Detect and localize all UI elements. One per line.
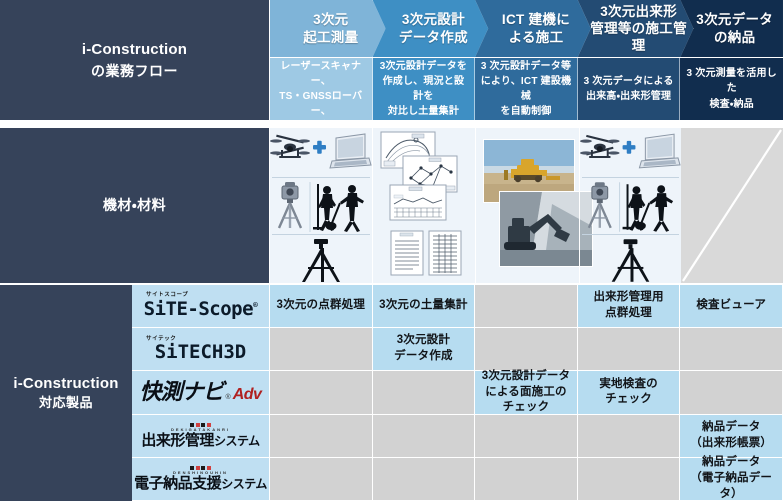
equipment-row-content: [270, 128, 783, 283]
empty-diagonal-placeholder: [681, 128, 783, 283]
tripod-icon: [580, 237, 681, 283]
cell-text: 出来形管理用点群処理: [593, 290, 663, 322]
equip-divider-4: [582, 234, 679, 235]
product-kaisoku-navi-adv-logo: 快測ナビ®Adv: [132, 371, 270, 414]
products-label-en: i-Construction: [13, 373, 118, 395]
process-step-3[interactable]: ICT 建機による施工: [475, 0, 591, 57]
header-title-jp: の業務フロー: [91, 61, 178, 81]
cell-text-line: チェック: [599, 392, 658, 408]
product-site-scope-cell-3: [475, 285, 578, 328]
scanner-surveyors-group-icon: [270, 180, 372, 237]
product-dekigata-kanri-system-cell-1: [270, 415, 373, 458]
cell-text-line: （電子納品データ）: [682, 471, 780, 501]
desc-line: レーザースキャナー、: [275, 59, 367, 89]
design-data-drawings-icon: [373, 128, 475, 283]
desc-line: TS・GNSSローバー、: [275, 89, 367, 119]
product-denshi-nouhin-shien-system-cell-5[interactable]: 納品データ（電子納品データ）: [680, 458, 783, 501]
product-denshi-nouhin-shien-system-logo: DENSHINOUHIN電子納品支援システム: [132, 458, 270, 501]
equip-col-1: [270, 128, 372, 283]
operator-silhouette-icon: [326, 185, 365, 232]
process-step-label: 3次元起工測量: [297, 11, 358, 46]
desc-line: 作成し、現況と設計を: [378, 74, 470, 104]
equip-divider-3: [582, 177, 679, 178]
product-dekigata-kanri-system-cell-2: [373, 415, 476, 458]
cell-text: 納品データ（出来形帳票）: [690, 420, 772, 452]
process-step-desc-text: 3 次元測量を活用した検査・納品: [685, 66, 778, 112]
desc-line: 3次元設計データを: [378, 59, 470, 74]
drone-laptop-group-icon: [270, 128, 372, 176]
product-dekigata-kanri-system-cell-3: [475, 415, 578, 458]
process-step-desc-2: 3次元設計データを作成し、現況と設計を対比し土量集計: [373, 58, 476, 120]
product-sitech-3d-logo: サイテックSiTECH3D: [132, 328, 270, 371]
laptop-icon: [330, 134, 371, 168]
product-dekigata-kanri-system-name-text: 出来形管理システム: [141, 433, 259, 448]
equipment-row-label-panel: 機材・材料: [0, 128, 269, 283]
equip-sep-3: [579, 128, 580, 283]
plus-icon: [313, 141, 326, 154]
desc-line: により、ICT 建設機械: [480, 74, 572, 104]
desc-line: 対比し土量集計: [378, 104, 470, 119]
product-denshi-nouhin-shien-system-cell-4: [578, 458, 681, 501]
product-denshi-nouhin-shien-system-name: DENSHINOUHIN電子納品支援システム: [134, 466, 267, 491]
laser-scanner-icon: [279, 182, 301, 228]
equipment-row-label: 機材・材料: [103, 195, 166, 215]
product-kaisoku-navi-adv-name: 快測ナビ®Adv: [140, 381, 262, 403]
desc-line: 3 次元設計データ等: [480, 59, 572, 74]
cell-text-line: による面施工の: [482, 385, 571, 401]
desc-line: 3 次元測量を活用した: [685, 66, 778, 96]
product-site-scope-cell-2[interactable]: 3次元の土量集計: [373, 285, 476, 328]
process-step-label-line1: 3次元出来形: [584, 3, 694, 20]
cell-text: 3次元の土量集計: [379, 298, 468, 314]
products-label-jp: 対応製品: [39, 394, 93, 413]
product-kaisoku-navi-adv-cell-5: [680, 371, 783, 414]
cell-text-line: 納品データ: [690, 420, 772, 436]
plus-icon: [623, 141, 636, 154]
equip-col-4: [580, 128, 681, 283]
process-step-label: 3次元設計データ作成: [393, 11, 468, 46]
cell-text-line: 実地検査の: [599, 377, 658, 393]
infographic-root: i-Construction の業務フロー 3次元起工測量3次元設計データ作成I…: [0, 0, 783, 501]
process-step-2[interactable]: 3次元設計データ作成: [373, 0, 489, 57]
product-dekigata-kanri-system-cell-5[interactable]: 納品データ（出来形帳票）: [680, 415, 783, 458]
process-step-label-line1: 3次元設計: [399, 11, 468, 28]
desc-line: 3 次元データによる: [584, 74, 674, 89]
operator-silhouette-icon: [635, 185, 673, 232]
products-label-panel: i-Construction 対応製品: [0, 285, 132, 501]
cell-text: 検査ビューア: [696, 298, 766, 314]
cell-text-line: データ作成: [394, 349, 453, 365]
cell-text-line: （出来形帳票）: [690, 436, 772, 452]
equip-sep-2: [475, 128, 476, 283]
process-step-label-line1: ICT 建機に: [502, 11, 570, 28]
equip-col-5: [681, 128, 783, 283]
process-step-desc-3: 3 次元設計データ等により、ICT 建設機械を自動制御: [475, 58, 578, 120]
header-title-en: i-Construction: [82, 39, 187, 61]
process-step-label-line2: 管理等の施工管理: [584, 20, 694, 55]
process-step-desc-4: 3 次元データによる出来高・出来形管理: [578, 58, 681, 120]
cell-text: 3次元設計データによる面施工のチェック: [482, 369, 571, 417]
product-kaisoku-navi-adv-cell-1: [270, 371, 373, 414]
product-sitech-3d-cell-3: [475, 328, 578, 371]
process-step-desc-text: 3次元設計データを作成し、現況と設計を対比し土量集計: [378, 59, 470, 120]
product-sitech-3d-name: SiTECH3D: [155, 343, 247, 362]
drone-icon: [580, 135, 620, 158]
equip-sep-1: [372, 128, 373, 283]
desc-line: 出来高・出来形管理: [584, 89, 674, 104]
process-step-label-line2: の納品: [696, 29, 773, 46]
product-sitech-3d-cell-4: [578, 328, 681, 371]
laser-scanner-icon: [589, 182, 611, 228]
laptop-icon: [639, 134, 680, 168]
product-kaisoku-navi-adv-cell-2: [373, 371, 476, 414]
cell-text: 3次元設計データ作成: [394, 333, 453, 365]
equip-divider-1: [272, 177, 370, 178]
process-step-label-line2: データ作成: [399, 29, 468, 46]
product-denshi-nouhin-shien-system-cell-3: [475, 458, 578, 501]
process-step-desc-1: UAVやレーザースキャナー、TS・GNSSローバー、ノンプリズムを活用: [270, 58, 373, 120]
process-step-label: ICT 建機による施工: [496, 11, 570, 46]
process-step-desc-5: 3 次元測量を活用した検査・納品: [680, 58, 783, 120]
desc-line: を自動制御: [480, 104, 572, 119]
cell-text: 3次元の点群処理: [277, 298, 366, 314]
drone-icon: [270, 135, 310, 158]
process-step-desc-text: 3 次元データによる出来高・出来形管理: [584, 74, 674, 104]
cell-text: 実地検査のチェック: [599, 377, 658, 409]
cell-text-line: 検査ビューア: [696, 298, 766, 314]
process-step-label-line2: 起工測量: [303, 29, 358, 46]
product-dekigata-kanri-system-logo: DEKIGATAKANRI出来形管理システム: [132, 415, 270, 458]
desc-line: 検査・納品: [685, 97, 778, 112]
process-step-4[interactable]: 3次元出来形管理等の施工管理: [578, 0, 694, 57]
product-dekigata-kanri-system-cell-4: [578, 415, 681, 458]
process-step-label-line1: 3次元: [303, 11, 358, 28]
cell-text: 納品データ（電子納品データ）: [682, 455, 780, 501]
process-step-5[interactable]: 3次元データの納品: [680, 0, 783, 57]
process-step-label: 3次元データの納品: [690, 11, 773, 46]
drone-laptop-group-icon: [580, 128, 681, 176]
product-sitech-3d-cell-2[interactable]: 3次元設計データ作成: [373, 328, 476, 371]
product-site-scope-cell-1[interactable]: 3次元の点群処理: [270, 285, 373, 328]
product-sitech-3d-cell-1: [270, 328, 373, 371]
cell-text-line: 納品データ: [682, 455, 780, 471]
equip-col-2: [373, 128, 475, 283]
process-step-label-line2: よる施工: [502, 29, 570, 46]
cell-text-line: 点群処理: [593, 306, 663, 322]
header-divider: [0, 120, 783, 128]
product-kaisoku-navi-adv-cell-3[interactable]: 3次元設計データによる面施工のチェック: [475, 371, 578, 414]
process-step-label: 3次元出来形管理等の施工管理: [578, 3, 694, 55]
product-site-scope-cell-4[interactable]: 出来形管理用点群処理: [578, 285, 681, 328]
product-sitech-3d-cell-5: [680, 328, 783, 371]
tripod-icon: [270, 237, 372, 283]
cell-text-line: 3次元設計データ: [482, 369, 571, 385]
product-denshi-nouhin-shien-system-name-text: 電子納品支援システム: [134, 476, 267, 491]
cell-text-line: 3次元設計: [394, 333, 453, 349]
product-site-scope-logo: サイトスコープSiTE-Scope®: [132, 285, 270, 328]
product-denshi-nouhin-shien-system-cell-2: [373, 458, 476, 501]
product-denshi-nouhin-shien-system-cell-1: [270, 458, 373, 501]
process-step-label-line1: 3次元データ: [696, 11, 773, 28]
equip-divider-2: [272, 234, 370, 235]
product-kaisoku-navi-adv-cell-4[interactable]: 実地検査のチェック: [578, 371, 681, 414]
product-site-scope-name: SiTE-Scope®: [144, 300, 258, 319]
process-step-1[interactable]: 3次元起工測量: [270, 0, 386, 57]
process-step-desc-text: 3 次元設計データ等により、ICT 建設機械を自動制御: [480, 59, 572, 120]
scanner-surveyors-group-icon: [580, 180, 681, 237]
header-left-title: i-Construction の業務フロー: [0, 0, 269, 120]
cell-text-line: 出来形管理用: [593, 290, 663, 306]
product-site-scope-cell-5[interactable]: 検査ビューア: [680, 285, 783, 328]
product-dekigata-kanri-system-name: DEKIGATAKANRI出来形管理システム: [141, 423, 259, 448]
equip-col-3: [476, 128, 579, 283]
